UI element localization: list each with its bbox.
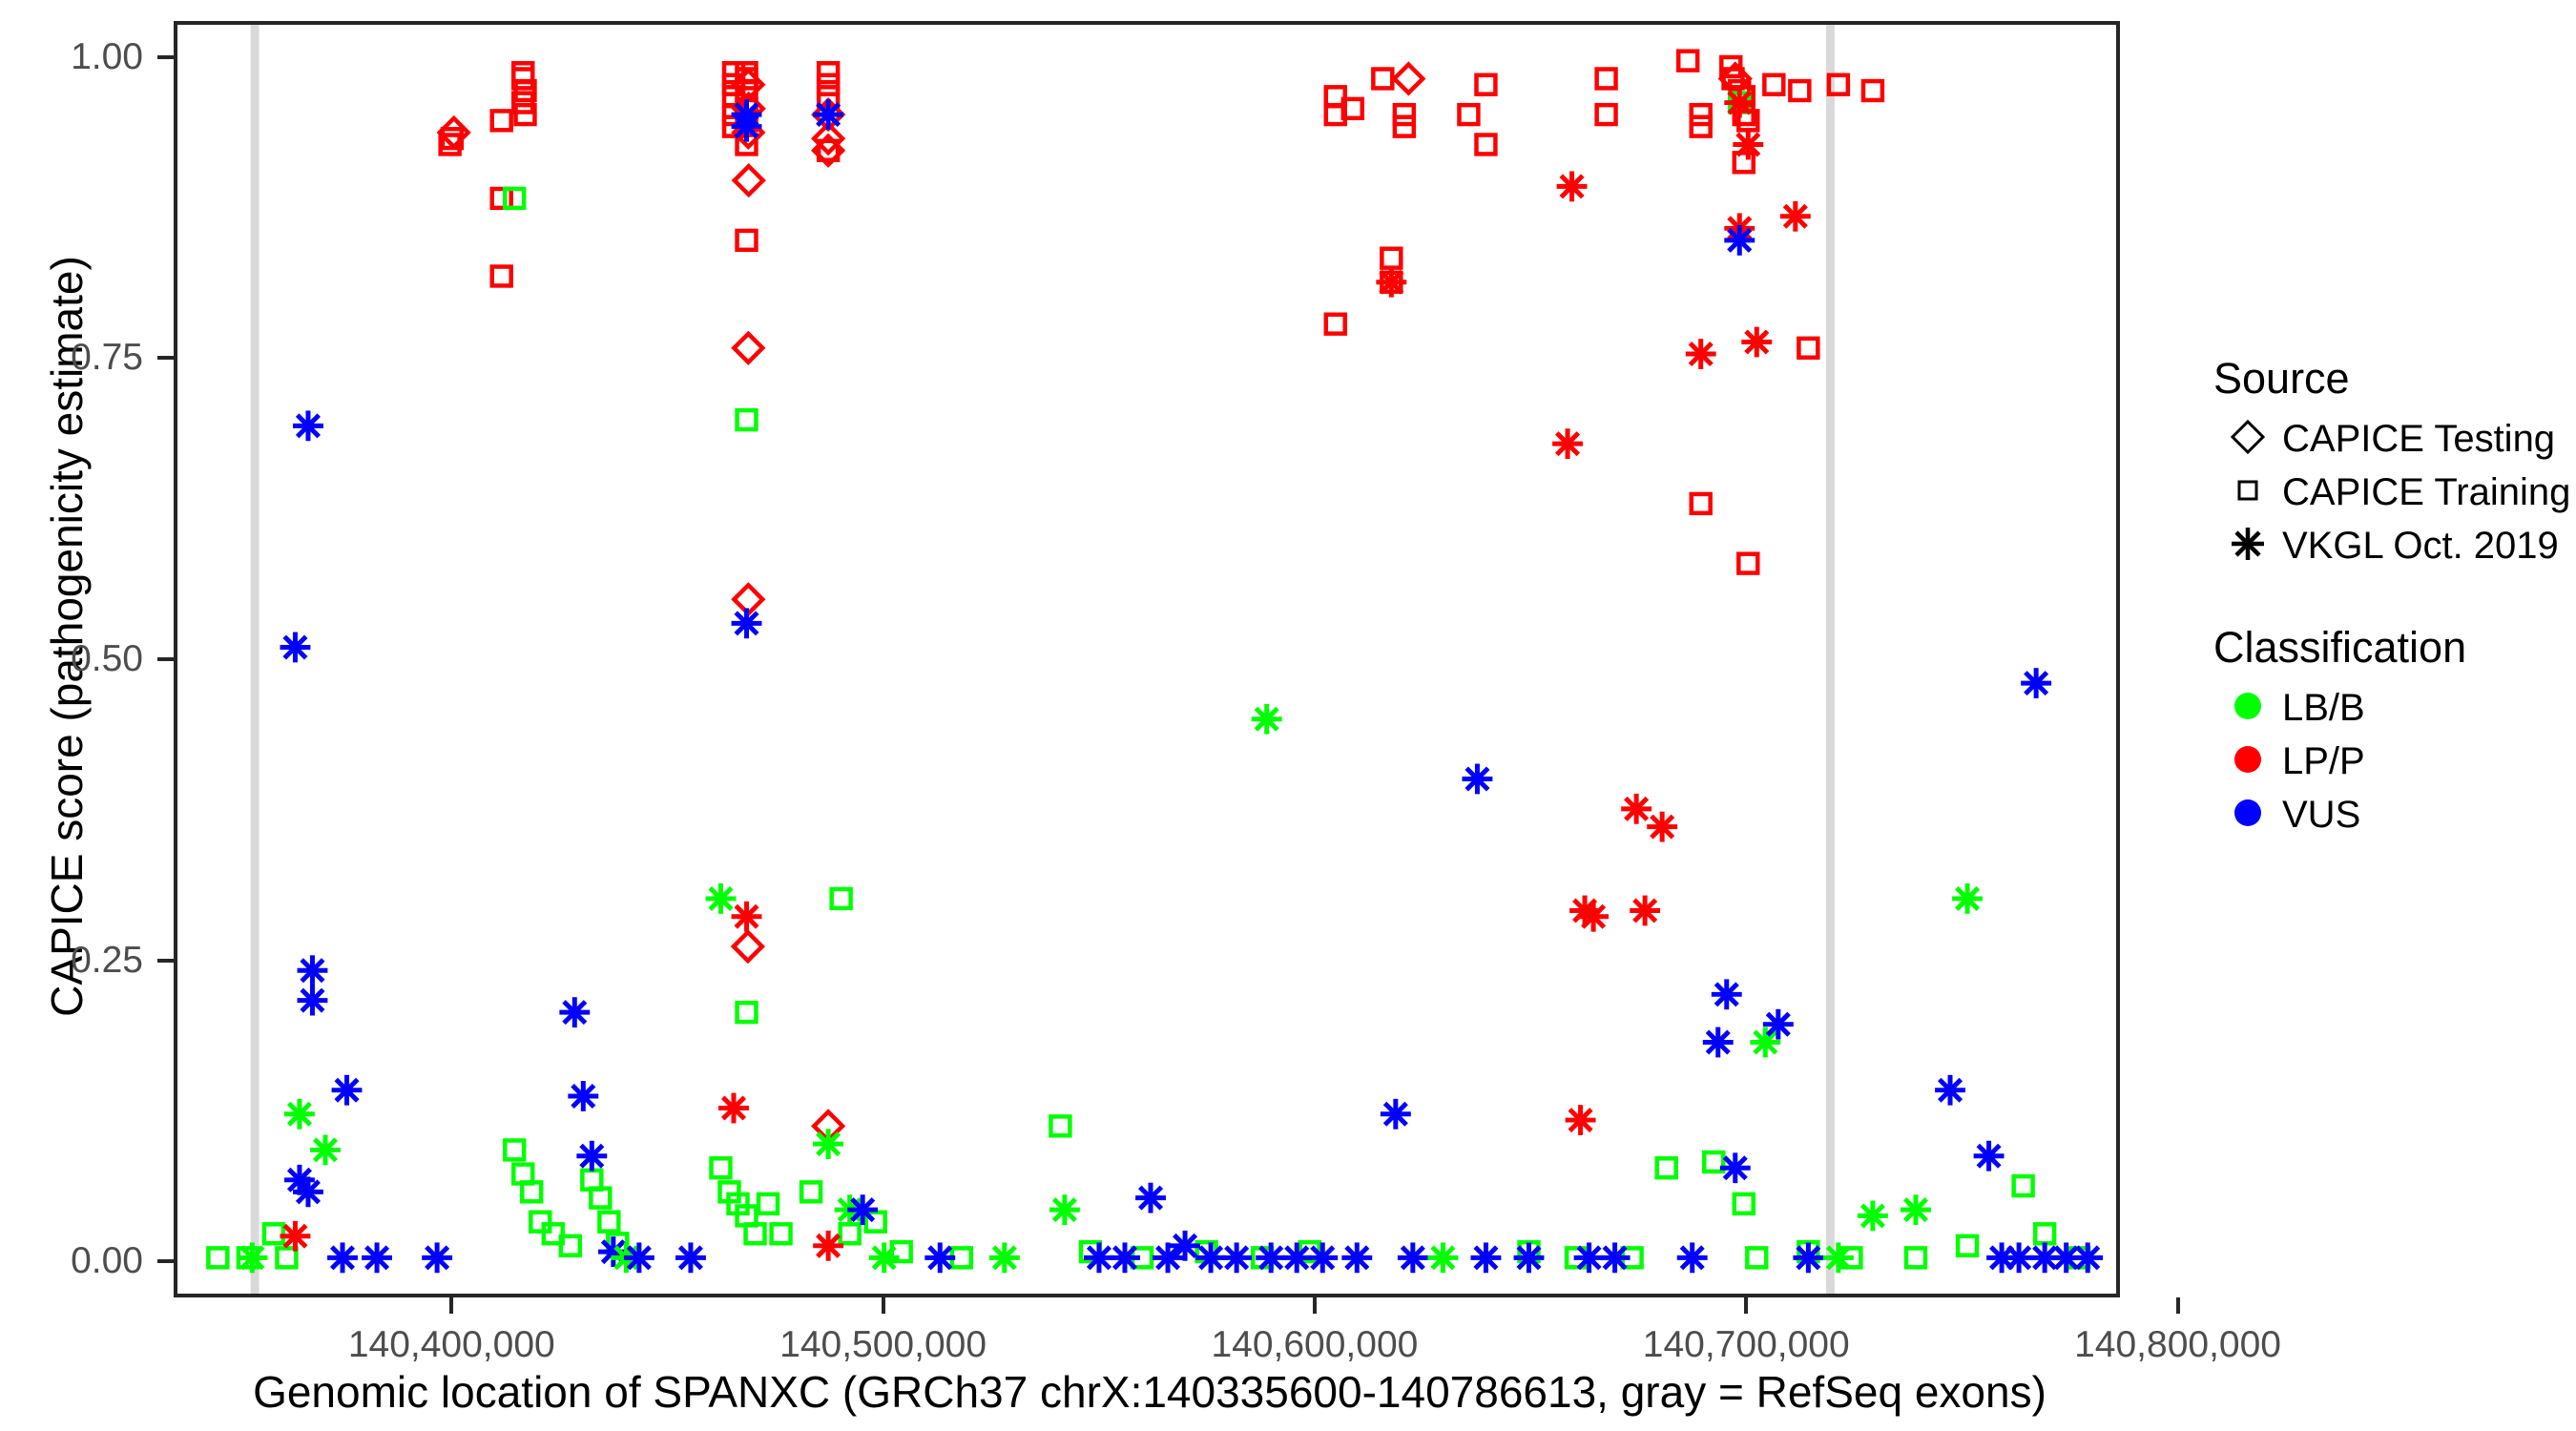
point-marker-asterisk: [1952, 883, 1983, 914]
legend-item-label: CAPICE Testing: [2282, 417, 2555, 461]
point-marker-square: [1326, 315, 1345, 334]
asterisk-icon: [2226, 522, 2270, 570]
legend-key: [2213, 415, 2282, 464]
point-marker-asterisk: [422, 1242, 452, 1273]
point-marker-square: [712, 1158, 731, 1177]
point-marker-asterisk: [1471, 1242, 1502, 1273]
legend-item-classification-2[interactable]: VUS: [2213, 788, 2576, 841]
y-tick-label: 0.00: [29, 1242, 143, 1279]
point-marker-square: [1476, 75, 1495, 94]
point-marker-asterisk: [624, 1242, 654, 1273]
point-marker-square: [1678, 52, 1697, 71]
point-marker-asterisk: [1712, 979, 1742, 1009]
diamond-icon: [2226, 415, 2270, 464]
legend-item-label: VUS: [2282, 793, 2360, 837]
point-marker-asterisk: [310, 1135, 341, 1166]
point-marker-asterisk: [1703, 1027, 1734, 1058]
point-marker-square: [264, 1224, 283, 1243]
point-marker-asterisk: [2021, 668, 2051, 698]
point-marker-asterisk: [1724, 88, 1755, 118]
point-marker-asterisk: [1221, 1242, 1252, 1273]
x-tick-mark: [2176, 1297, 2180, 1314]
point-marker-asterisk: [1901, 1194, 1931, 1225]
point-marker-asterisk: [327, 1242, 358, 1273]
chart-root: CAPICE score (pathogenicity estimate) Ge…: [0, 0, 2576, 1431]
point-marker-square: [1657, 1158, 1676, 1177]
point-marker-asterisk: [1341, 1242, 1372, 1273]
point-marker-asterisk: [732, 608, 762, 638]
legend-spacer: [2213, 572, 2576, 622]
point-marker-asterisk: [1823, 1242, 1854, 1273]
x-tick-label: 140,400,000: [308, 1326, 594, 1363]
point-marker-square: [1692, 105, 1711, 124]
point-marker-square: [505, 189, 524, 208]
point-marker-square: [492, 267, 511, 286]
point-marker-square: [772, 1224, 791, 1243]
point-marker-asterisk: [1858, 1201, 1888, 1232]
point-marker-asterisk: [1307, 1242, 1338, 1273]
point-marker-square: [2014, 1176, 2033, 1195]
y-tick-label: 0.50: [29, 640, 143, 677]
point-marker-square: [1381, 249, 1401, 268]
point-marker-asterisk: [237, 1242, 267, 1273]
point-marker-asterisk: [732, 112, 762, 142]
point-marker-square: [492, 111, 511, 130]
point-marker-square: [1790, 81, 1809, 100]
point-marker-square: [1692, 494, 1711, 513]
y-tick-mark: [157, 356, 174, 360]
x-tick-mark: [1744, 1297, 1748, 1314]
point-marker-asterisk: [1630, 896, 1660, 926]
point-marker-square: [208, 1248, 227, 1267]
point-marker-square: [1735, 1194, 1754, 1213]
point-marker-square: [1764, 75, 1783, 94]
point-marker-square: [599, 1213, 618, 1232]
y-tick-mark: [157, 657, 174, 661]
legend-container: SourceCAPICE TestingCAPICE TrainingVKGL …: [2213, 353, 2576, 841]
point-marker-square: [1476, 135, 1495, 155]
point-marker-asterisk: [362, 1242, 392, 1273]
legend-title-source: Source: [2213, 353, 2576, 404]
point-marker-asterisk: [1793, 1242, 1823, 1273]
point-marker-asterisk: [1049, 1194, 1080, 1225]
point-marker-asterisk: [1686, 339, 1716, 369]
point-marker-asterisk: [1566, 1105, 1596, 1135]
legend-item-classification-0[interactable]: LB/B: [2213, 681, 2576, 735]
point-marker-asterisk: [2072, 1242, 2103, 1273]
point-marker-asterisk: [1720, 1152, 1751, 1183]
point-marker-asterisk: [869, 1242, 900, 1273]
point-marker-square: [801, 1182, 821, 1201]
point-marker-square: [492, 189, 511, 208]
point-marker-asterisk: [1733, 130, 1763, 160]
point-marker-asterisk: [1135, 1183, 1166, 1213]
legend-item-source-1[interactable]: CAPICE Training: [2213, 466, 2576, 519]
exon-band: [1826, 25, 1835, 1294]
point-marker-asterisk: [1780, 201, 1811, 232]
circle-icon: [2226, 791, 2270, 840]
point-marker-square: [1958, 1236, 1977, 1255]
point-marker-square: [1373, 70, 1392, 89]
point-marker-diamond: [734, 932, 762, 961]
point-marker-asterisk: [1600, 1242, 1631, 1273]
x-tick-mark: [882, 1297, 885, 1314]
point-marker-asterisk: [732, 902, 762, 932]
point-marker-square: [737, 410, 757, 429]
point-marker-asterisk: [559, 997, 590, 1027]
point-marker-asterisk: [1557, 171, 1588, 201]
point-marker-square: [841, 1224, 860, 1243]
point-marker-asterisk: [1381, 1099, 1411, 1130]
point-marker-asterisk: [280, 633, 311, 663]
point-marker-square: [758, 1194, 778, 1213]
point-marker-square: [1863, 81, 1882, 100]
x-tick-label: 140,700,000: [1603, 1326, 1889, 1363]
y-tick-label: 1.00: [29, 38, 143, 75]
legend-item-label: LB/B: [2282, 686, 2365, 730]
x-axis-label: Genomic location of SPANXC (GRCh37 chrX:…: [0, 1366, 2299, 1418]
point-marker-asterisk: [1974, 1141, 2005, 1172]
x-tick-mark: [449, 1297, 453, 1314]
point-marker-square: [2035, 1224, 2054, 1243]
point-marker-square: [1597, 70, 1616, 89]
point-marker-square: [1692, 117, 1711, 136]
point-marker-asterisk: [298, 985, 328, 1016]
point-marker-square: [1597, 105, 1616, 124]
point-marker-square: [737, 231, 757, 250]
point-marker-asterisk: [332, 1075, 363, 1106]
legend-key: [2213, 737, 2282, 786]
legend-item-label: LP/P: [2282, 739, 2365, 783]
x-tick-label: 140,800,000: [2035, 1326, 2321, 1363]
point-marker-asterisk: [568, 1081, 598, 1111]
legend-item-source-2[interactable]: VKGL Oct. 2019: [2213, 519, 2576, 572]
point-marker-square: [505, 1140, 524, 1159]
y-tick-label: 0.25: [29, 942, 143, 979]
point-marker-square: [1906, 1248, 1925, 1267]
point-marker-asterisk: [924, 1242, 955, 1273]
point-marker-asterisk: [1935, 1075, 1965, 1106]
point-marker-asterisk: [1110, 1242, 1140, 1273]
legend-key: [2213, 468, 2282, 517]
point-marker-square: [1050, 1116, 1070, 1135]
y-tick-label: 0.75: [29, 339, 143, 376]
y-tick-mark: [157, 55, 174, 59]
point-marker-square: [1798, 339, 1818, 358]
legend-item-label: CAPICE Training: [2282, 470, 2570, 514]
point-marker-square: [1738, 554, 1757, 573]
legend-item-classification-1[interactable]: LP/P: [2213, 735, 2576, 788]
circle-icon: [2226, 737, 2270, 786]
y-tick-mark: [157, 1259, 174, 1263]
point-marker-square: [1395, 105, 1414, 124]
x-tick-label: 140,600,000: [1172, 1326, 1458, 1363]
y-axis-label: CAPICE score (pathogenicity estimate): [41, 73, 93, 1199]
point-marker-asterisk: [1621, 794, 1652, 824]
point-marker-asterisk: [718, 1093, 749, 1124]
point-marker-asterisk: [293, 410, 323, 441]
point-marker-asterisk: [1462, 764, 1492, 795]
legend-key: [2213, 684, 2282, 733]
y-tick-mark: [157, 959, 174, 963]
point-marker-square: [819, 63, 838, 82]
point-marker-asterisk: [1578, 902, 1609, 932]
point-marker-asterisk: [284, 1099, 315, 1130]
point-marker-diamond: [1394, 65, 1423, 93]
legend-item-label: VKGL Oct. 2019: [2282, 524, 2559, 568]
point-marker-asterisk: [847, 1194, 878, 1225]
point-marker-square: [530, 1213, 550, 1232]
point-marker-asterisk: [1741, 327, 1772, 358]
legend-title-classification: Classification: [2213, 622, 2576, 674]
point-marker-asterisk: [813, 99, 843, 130]
legend-key: [2213, 522, 2282, 570]
x-tick-mark: [1313, 1297, 1317, 1314]
point-marker-asterisk: [989, 1242, 1020, 1273]
point-marker-asterisk: [706, 883, 737, 914]
point-marker-asterisk: [280, 1221, 311, 1252]
point-marker-asterisk: [298, 955, 328, 985]
point-marker-square: [1459, 105, 1478, 124]
scatter-canvas: [177, 25, 2116, 1294]
point-marker-asterisk: [576, 1141, 607, 1172]
point-marker-asterisk: [1677, 1242, 1708, 1273]
point-marker-square: [832, 889, 851, 908]
exon-band: [251, 25, 260, 1294]
circle-icon: [2226, 684, 2270, 733]
point-marker-asterisk: [293, 1176, 323, 1207]
legend-key: [2213, 791, 2282, 840]
x-tick-label: 140,500,000: [740, 1326, 1027, 1363]
point-marker-asterisk: [1398, 1242, 1428, 1273]
square-icon: [2226, 468, 2270, 517]
plot-panel: [174, 21, 2120, 1297]
point-marker-asterisk: [813, 1231, 843, 1261]
point-marker-square: [1395, 117, 1414, 136]
point-marker-asterisk: [813, 1129, 843, 1159]
point-marker-square: [1747, 1248, 1766, 1267]
point-marker-asterisk: [1552, 428, 1583, 459]
point-marker-diamond: [734, 334, 762, 363]
point-marker-square: [737, 1003, 757, 1022]
point-marker-asterisk: [1763, 1009, 1794, 1040]
point-marker-asterisk: [675, 1242, 706, 1273]
point-marker-diamond: [735, 166, 763, 195]
point-marker-asterisk: [1376, 267, 1406, 298]
point-marker-asterisk: [1252, 704, 1282, 735]
legend-item-source-0[interactable]: CAPICE Testing: [2213, 412, 2576, 466]
point-marker-asterisk: [1427, 1242, 1458, 1273]
point-marker-asterisk: [1724, 225, 1755, 256]
point-marker-square: [819, 75, 838, 94]
point-marker-asterisk: [1514, 1242, 1545, 1273]
point-marker-asterisk: [1647, 812, 1677, 842]
